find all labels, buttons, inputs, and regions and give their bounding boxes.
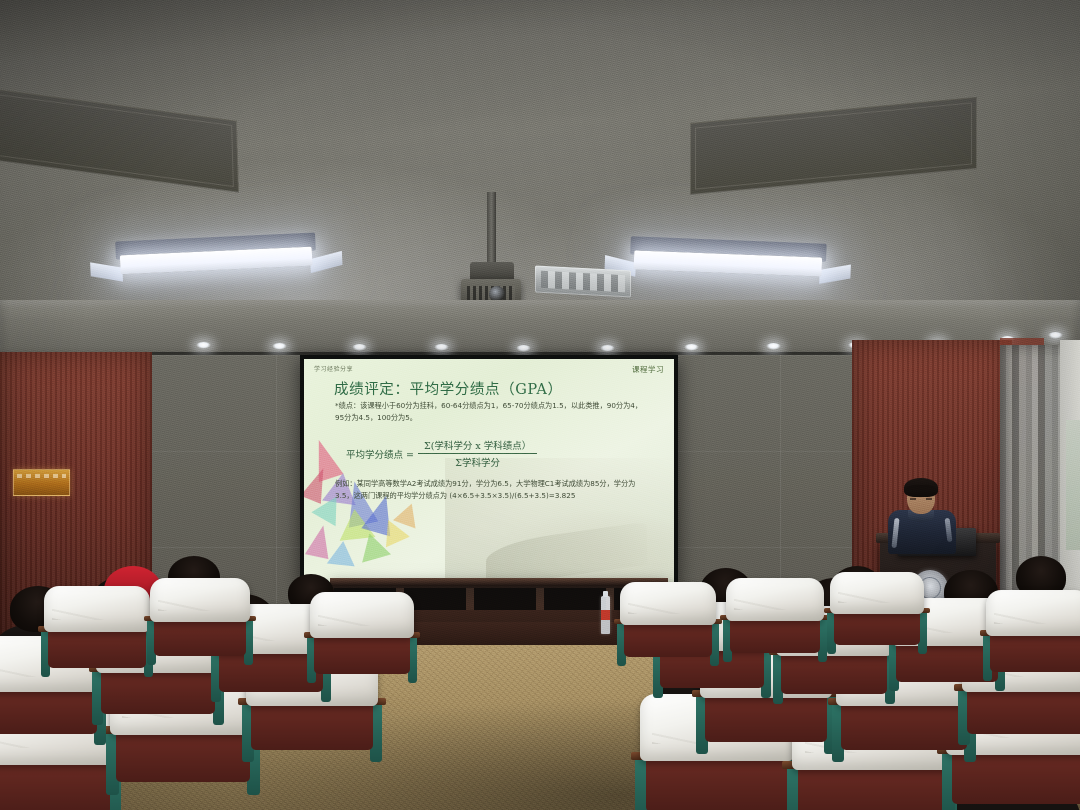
projector-mount-pole [487, 192, 496, 270]
deco-triangle-11 [327, 540, 357, 567]
slide-header-right: 课程学习 [632, 364, 664, 375]
recessed-downlight-2 [352, 344, 367, 351]
fluorescent-light-fixture-right [629, 236, 826, 283]
water-bottle[interactable] [601, 596, 610, 634]
auditorium-seat[interactable] [726, 578, 824, 652]
recessed-downlight-1 [272, 343, 287, 350]
slide-example-text: 例如：某同学高等数学A2考试成绩为91分，学分为6.5，大学物理C1考试成绩为8… [335, 478, 647, 502]
wall-notice-sign [13, 469, 70, 496]
auditorium-seat[interactable] [44, 586, 150, 666]
student-presenter [888, 478, 956, 552]
formula-left-hand-side: 平均学分绩点 = [346, 447, 414, 461]
slide-header-left: 学习经验分享 [314, 364, 353, 373]
recessed-downlight-11 [1048, 332, 1063, 339]
formula-denominator: Σ学科学分 [455, 454, 500, 469]
white-seat-cover [620, 582, 716, 625]
slide-title: 成绩评定：平均学分绩点（GPA） [334, 378, 563, 399]
auditorium-seat[interactable] [150, 578, 250, 654]
recessed-downlight-7 [766, 343, 781, 350]
projection-screen-frame: 学习经验分享 课程学习 成绩评定：平均学分绩点（GPA） *绩点：该课程小于60… [300, 355, 678, 587]
recessed-downlight-4 [516, 345, 531, 352]
seat-backrest [990, 630, 1080, 672]
table-top-edge [330, 578, 668, 586]
slide-formula: 平均学分绩点 = Σ(学科学分 x 学科绩点） Σ学科学分 [346, 438, 537, 469]
formula-numerator: Σ(学科学分 x 学科绩点） [418, 438, 537, 454]
slide-background-photo [445, 458, 674, 583]
auditorium-seat[interactable] [986, 590, 1080, 670]
presenter-eyes [910, 498, 932, 500]
white-seat-cover [830, 572, 924, 614]
air-conditioner-vent [535, 265, 631, 297]
presenter-hair [904, 478, 938, 497]
white-seat-cover [986, 590, 1080, 636]
seat-backrest [101, 666, 215, 714]
auditorium-seat[interactable] [830, 572, 924, 644]
recessed-downlight-0 [196, 342, 211, 349]
seat-backrest [48, 626, 146, 668]
recessed-downlight-5 [600, 345, 615, 352]
white-seat-cover [44, 586, 150, 632]
projection-screen[interactable]: 学习经验分享 课程学习 成绩评定：平均学分绩点（GPA） *绩点：该课程小于60… [304, 359, 674, 583]
recessed-downlight-3 [434, 344, 449, 351]
slide-bullet-text: *绩点：该课程小于60分为挂科，60-64分绩点为1，65-70分绩点为1.5，… [335, 400, 645, 424]
auditorium-seat[interactable] [620, 582, 716, 656]
white-seat-cover [726, 578, 824, 621]
lecture-hall-photo: 学习经验分享 课程学习 成绩评定：平均学分绩点（GPA） *绩点：该课程小于60… [0, 0, 1080, 810]
white-seat-cover [150, 578, 250, 622]
window-strip [1066, 420, 1080, 550]
formula-fraction: Σ(学科学分 x 学科绩点） Σ学科学分 [418, 438, 537, 469]
white-seat-cover [310, 592, 414, 638]
recessed-downlight-6 [684, 344, 699, 351]
auditorium-seat[interactable] [310, 592, 414, 672]
seat-backrest [314, 632, 410, 674]
